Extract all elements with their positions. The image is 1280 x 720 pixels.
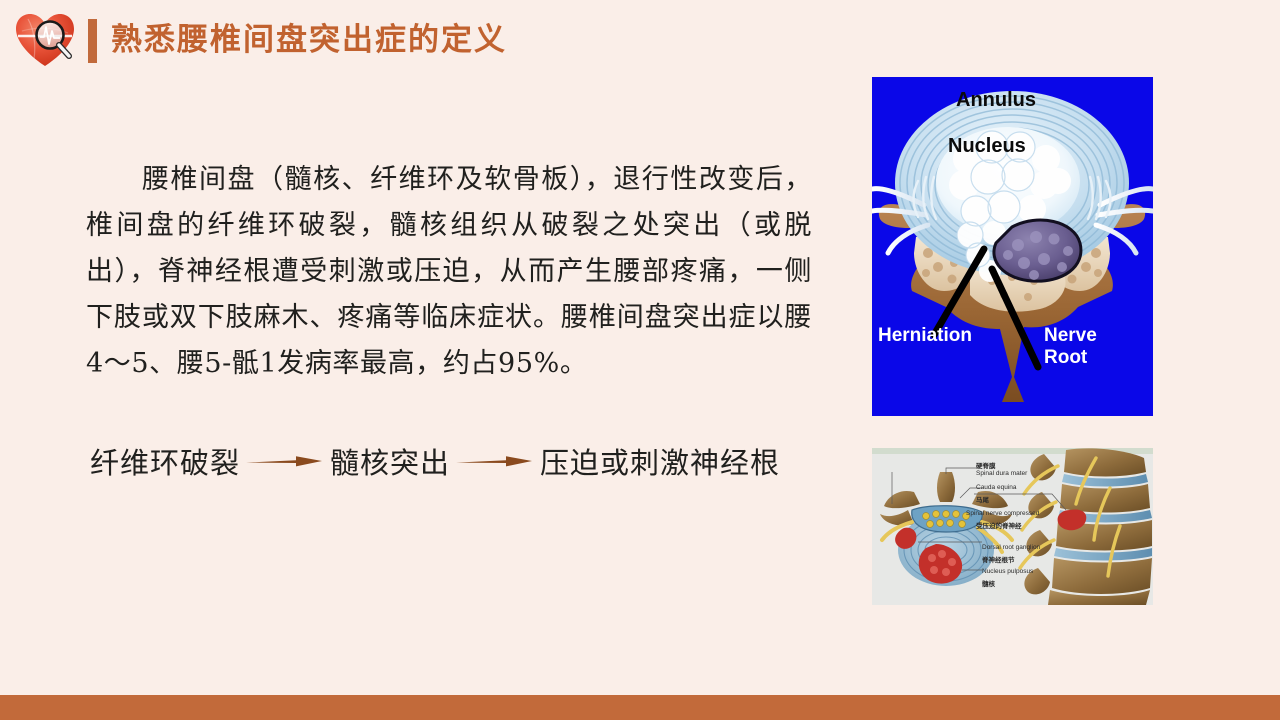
label-herniation: Herniation [878,325,972,347]
label-nucleus: Nucleus [948,135,1026,158]
slide-header: 熟悉腰椎间盘突出症的定义 [0,0,1280,82]
callout-en-cauda: Cauda equina [976,484,1016,491]
label-nerve-root: Nerve Root [1044,325,1097,369]
flow-node-2: 髓核突出 [330,440,450,482]
callout-cn-dura: 硬脊膜 [976,460,996,470]
page-title: 熟悉腰椎间盘突出症的定义 [111,17,507,63]
label-nerve-root-line1: Nerve [1044,325,1097,346]
bottom-accent-band [0,695,1280,720]
label-nerve-root-line2: Root [1044,347,1087,368]
callout-cn-nerve: 受压迫的脊神经 [976,520,1022,530]
flow-node-1: 纤维环破裂 [90,440,240,482]
callout-en-nucleus: Nucleus pulposus [982,568,1033,575]
callout-cn-nucleus: 髓核 [982,578,995,588]
axial-lumbar-disc-herniation-diagram: Annulus Nucleus Herniation Nerve Root [872,77,1153,416]
title-accent-bar [88,19,97,63]
pathophysiology-flow: 纤维环破裂 髓核突出 压迫或刺激神经根 [90,440,780,482]
callout-en-ganglion: Dorsal root ganglion [982,544,1040,551]
definition-paragraph: 腰椎间盘（髓核、纤维环及软骨板），退行性改变后，椎间盘的纤维环破裂，髓核组织从破… [86,157,812,387]
heart-ecg-magnifier-icon [14,11,80,71]
flow-arrow-right-icon-1 [246,448,324,474]
callout-en-dura: Spinal dura mater [976,470,1027,477]
callout-cn-cauda: 马尾 [976,494,989,504]
flow-node-3: 压迫或刺激神经根 [540,440,780,482]
callout-en-nerve: Spinal nerve compressed [966,510,1039,517]
flow-arrow-right-icon-2 [456,448,534,474]
label-annulus: Annulus [956,89,1036,112]
callout-cn-ganglion: 脊神经根节 [982,554,1015,564]
lumbar-spine-nerve-compression-diagram: 硬脊膜 Spinal dura mater Cauda equina 马尾 Sp… [872,448,1153,605]
